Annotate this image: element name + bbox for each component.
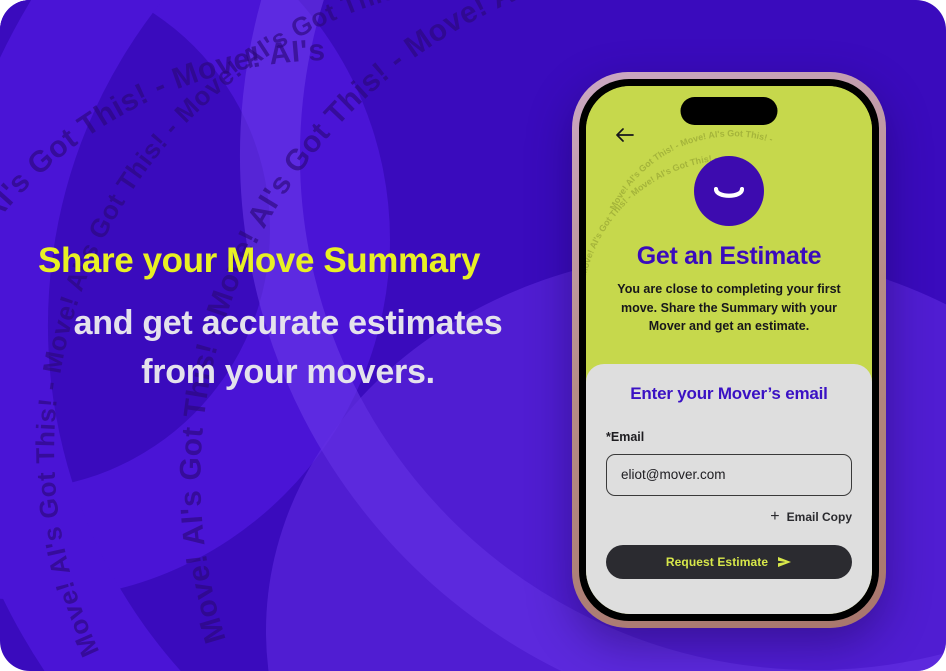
request-estimate-label: Request Estimate: [666, 555, 768, 569]
avatar: [694, 156, 764, 226]
form-sheet: Enter your Mover’s email *Email + Email …: [586, 364, 872, 615]
headline-primary: Share your Move Summary: [38, 240, 538, 281]
phone-screen: Move! AI's Got This! - Move! AI's Got Th…: [586, 86, 872, 614]
dynamic-island: [681, 97, 778, 125]
send-plane-icon: [777, 556, 792, 568]
hero-section: Move! AI's Got This! - Move! AI's Got Th…: [586, 86, 872, 358]
email-input[interactable]: [606, 454, 852, 496]
page-title: Get an Estimate: [602, 242, 856, 271]
form-title: Enter your Mover’s email: [606, 384, 852, 404]
arrow-left-icon: [616, 128, 634, 142]
marketing-copy: Share your Move Summary and get accurate…: [38, 240, 538, 396]
headline-secondary: and get accurate estimates from your mov…: [38, 299, 538, 396]
back-button[interactable]: [612, 122, 638, 148]
phone-bezel: Move! AI's Got This! - Move! AI's Got Th…: [579, 79, 879, 621]
phone-mockup: Move! AI's Got This! - Move! AI's Got Th…: [572, 72, 886, 628]
smile-avatar-icon: [714, 179, 744, 203]
email-copy-label: Email Copy: [787, 510, 852, 524]
email-copy-button[interactable]: + Email Copy: [606, 509, 852, 525]
promo-card: Move! AI's Got This! - Move! AI's Got Th…: [0, 0, 946, 671]
request-estimate-button[interactable]: Request Estimate: [606, 545, 852, 579]
email-field-label: *Email: [606, 430, 852, 444]
plus-icon: +: [770, 509, 779, 525]
page-subtitle: You are close to completing your first m…: [603, 280, 855, 336]
